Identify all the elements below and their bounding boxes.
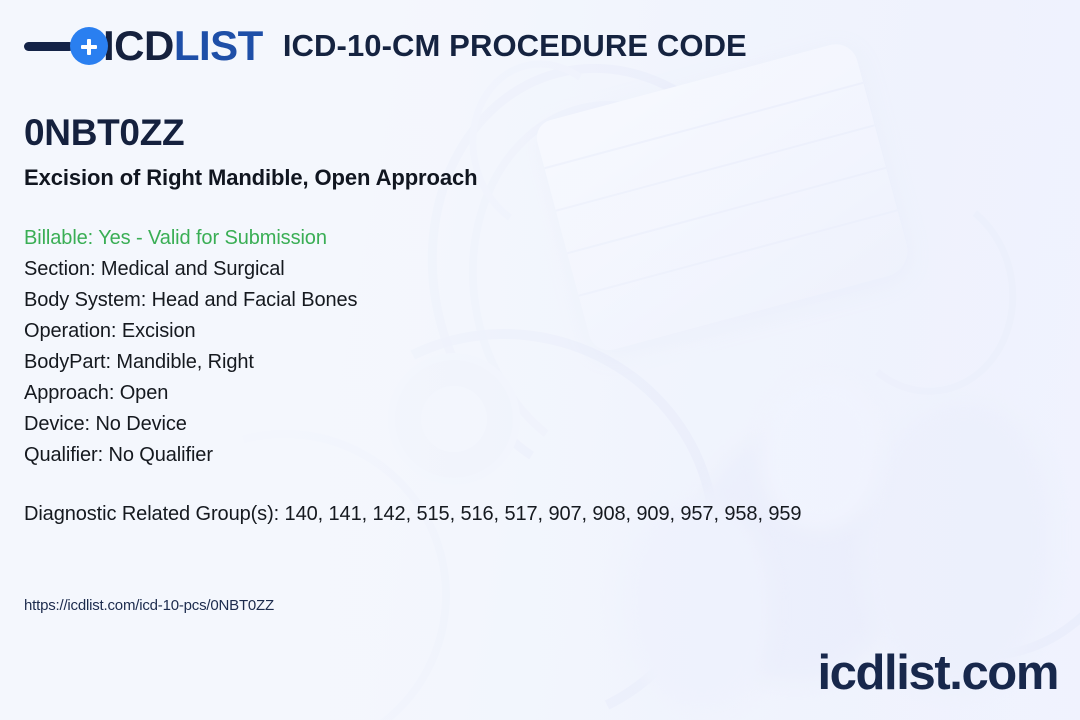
detail-row-device: Device: No Device: [24, 409, 357, 440]
logo-word-list: LIST: [174, 22, 263, 69]
diagnostic-related-groups: Diagnostic Related Group(s): 140, 141, 1…: [24, 503, 801, 526]
detail-row-bodypart: BodyPart: Mandible, Right: [24, 347, 357, 378]
page-title: ICD-10-CM PROCEDURE CODE: [283, 30, 747, 63]
dash-icon: [24, 42, 74, 51]
detail-row-approach: Approach: Open: [24, 378, 357, 409]
detail-list: Billable: Yes - Valid for Submission Sec…: [24, 223, 357, 471]
source-url[interactable]: https://icdlist.com/icd-10-pcs/0NBT0ZZ: [24, 597, 274, 614]
header: ICDLIST ICD-10-CM PROCEDURE CODE: [24, 25, 747, 67]
procedure-description: Excision of Right Mandible, Open Approac…: [24, 165, 477, 191]
page-content: ICDLIST ICD-10-CM PROCEDURE CODE 0NBT0ZZ…: [0, 0, 1080, 720]
icdlist-logo[interactable]: ICDLIST: [24, 25, 263, 67]
brand-watermark: icdlist.com: [817, 649, 1058, 698]
procedure-code: 0NBT0ZZ: [24, 112, 184, 154]
detail-row-qualifier: Qualifier: No Qualifier: [24, 440, 357, 471]
plus-circle-icon: [70, 27, 108, 65]
billable-status: Billable: Yes - Valid for Submission: [24, 223, 357, 254]
detail-row-body-system: Body System: Head and Facial Bones: [24, 285, 357, 316]
logo-word-icd: ICD: [103, 22, 174, 69]
detail-row-operation: Operation: Excision: [24, 316, 357, 347]
logo-wordmark: ICDLIST: [103, 25, 263, 67]
detail-row-section: Section: Medical and Surgical: [24, 254, 357, 285]
